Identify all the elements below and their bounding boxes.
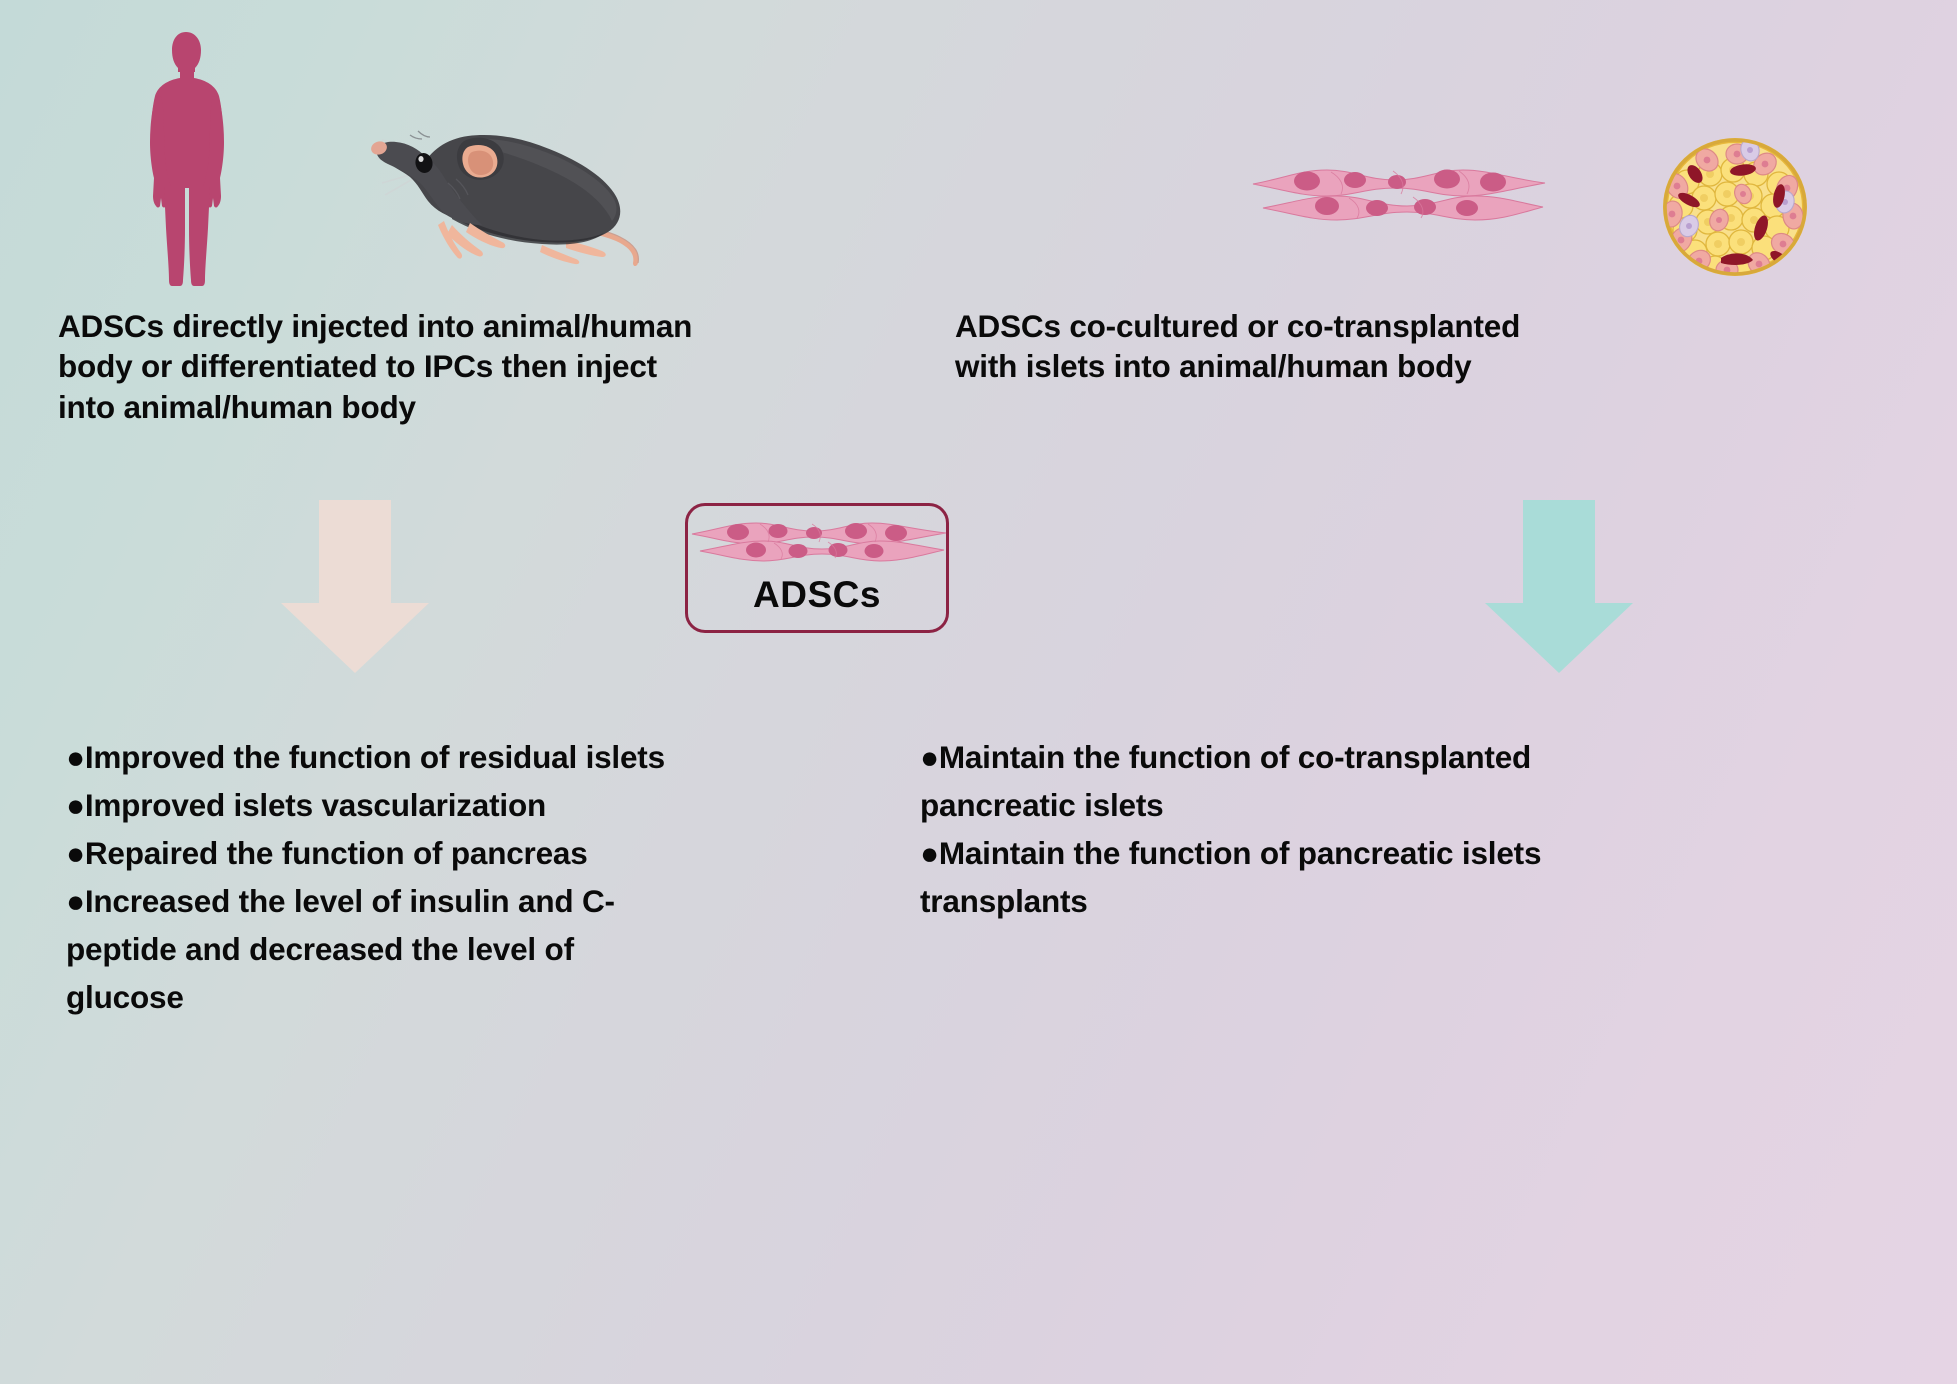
list-item: ●Improved the function of residual islet… xyxy=(66,735,706,781)
list-item: ●Maintain the function of co-transplante… xyxy=(920,735,1560,781)
adsc-box-label: ADSCs xyxy=(688,574,946,616)
human-body-silhouette-icon xyxy=(150,28,250,290)
laboratory-mouse-icon xyxy=(352,95,662,270)
figure-canvas: ADSCs directly injected into animal/huma… xyxy=(0,0,1957,1384)
list-item-continuation: peptide and decreased the level of xyxy=(66,927,706,973)
list-item: ●Improved islets vascularization xyxy=(66,783,706,829)
adsc-center-box[interactable]: ADSCs xyxy=(685,503,949,633)
list-item: ●Maintain the function of pancreatic isl… xyxy=(920,831,1560,877)
caption-line: ADSCs directly injected into xyxy=(58,308,474,344)
list-item-continuation: pancreatic islets xyxy=(920,783,1560,829)
caption-line: with islets into animal/human body xyxy=(955,346,1575,386)
right-branch-caption: ADSCs co-cultured or co-transplanted wit… xyxy=(955,306,1575,387)
list-item: ●Repaired the function of pancreas xyxy=(66,831,706,877)
caption-line: ADSCs co-cultured or co-transplanted xyxy=(955,306,1575,346)
down-arrow-right-icon xyxy=(1485,500,1633,673)
outcomes-left-list: ●Improved the function of residual islet… xyxy=(66,735,706,1023)
pancreatic-islet-icon xyxy=(1655,132,1815,282)
list-item: ●Increased the level of insulin and C- xyxy=(66,879,706,925)
adsc-cells-icon xyxy=(686,512,954,570)
down-arrow-left-icon xyxy=(281,500,429,673)
outcomes-right-list: ●Maintain the function of co-transplante… xyxy=(920,735,1560,927)
left-branch-caption: ADSCs directly injected into animal/huma… xyxy=(58,306,718,427)
list-item-continuation: transplants xyxy=(920,879,1560,925)
adsc-cells-cluster-icon xyxy=(1245,150,1555,240)
list-item-continuation: glucose xyxy=(66,975,706,1021)
